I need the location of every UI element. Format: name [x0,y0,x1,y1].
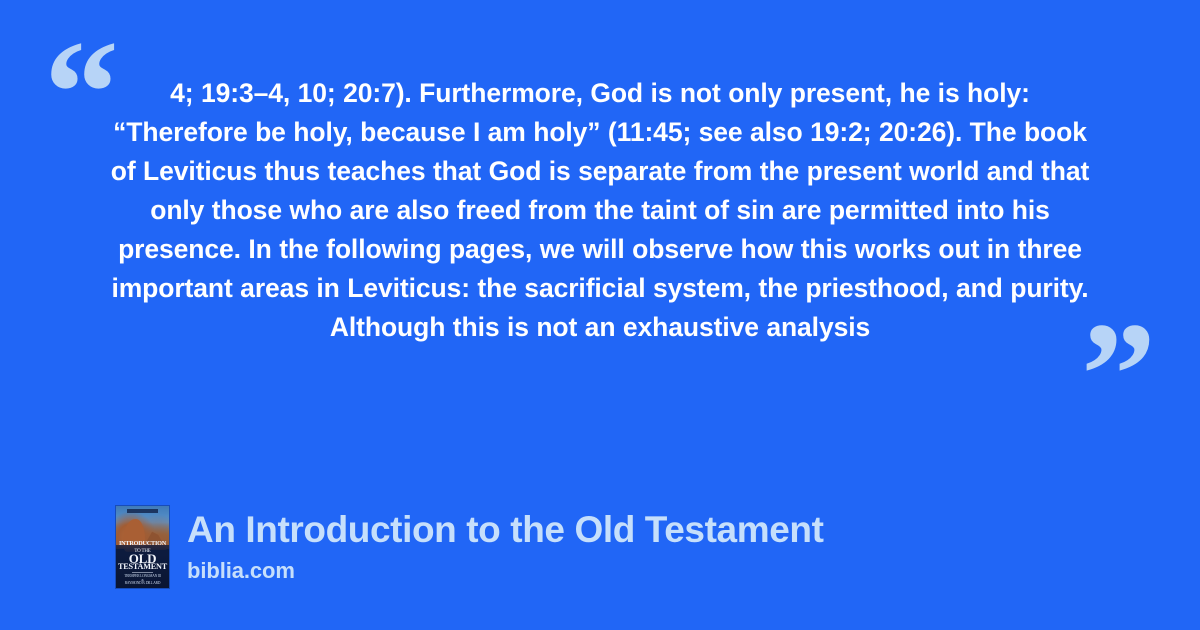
cover-title-testament: TESTAMENT [116,563,169,571]
book-cover-thumbnail[interactable]: INTRODUCTION TO THE OLD TESTAMENT TREMPE… [116,506,169,588]
cover-divider [132,572,153,573]
cover-top-banner [127,509,159,513]
footer-text-block: An Introduction to the Old Testament bib… [187,506,824,584]
footer: INTRODUCTION TO THE OLD TESTAMENT TREMPE… [116,506,824,588]
quote-text: 4; 19:3–4, 10; 20:7). Furthermore, God i… [108,74,1092,347]
quote-area: 4; 19:3–4, 10; 20:7). Furthermore, God i… [0,74,1200,347]
quote-card: “ 4; 19:3–4, 10; 20:7). Furthermore, God… [0,0,1200,630]
cover-author-2: RAYMOND B. DILLARD [116,582,169,586]
site-name[interactable]: biblia.com [187,558,824,584]
book-title: An Introduction to the Old Testament [187,508,824,552]
cover-title-introduction: INTRODUCTION [116,541,169,547]
close-quote-icon: ” [1081,300,1158,450]
